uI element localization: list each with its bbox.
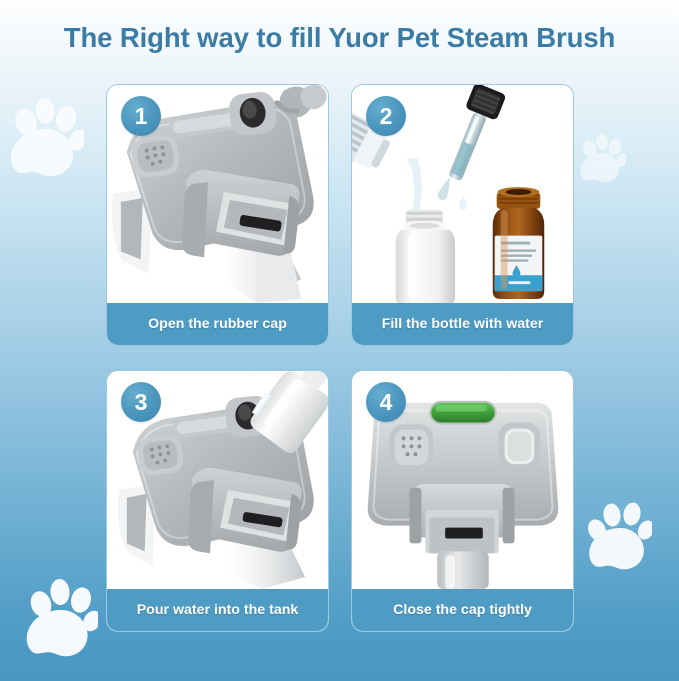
paw-print-top-right-icon: [580, 132, 626, 186]
step-4-image: 4: [352, 371, 573, 589]
step-2-number-badge: 2: [366, 96, 406, 136]
step-card-4[interactable]: 4: [351, 370, 574, 632]
paw-print-bottom-left-icon: [26, 578, 98, 662]
step-1-number-badge: 1: [121, 96, 161, 136]
infographic-root: The Right way to fill Yuor Pet Steam Bru…: [0, 0, 679, 681]
page-title: The Right way to fill Yuor Pet Steam Bru…: [0, 22, 679, 54]
paw-print-top-left-icon: [10, 96, 84, 182]
step-3-number-badge: 3: [121, 382, 161, 422]
step-4-number-badge: 4: [366, 382, 406, 422]
step-card-2[interactable]: 2: [351, 84, 574, 346]
step-1-image: 1: [107, 85, 328, 303]
paw-print-bottom-right-icon: [588, 498, 652, 572]
step-3-caption: Pour water into the tank: [107, 589, 328, 631]
steps-grid: 1: [106, 84, 574, 632]
step-3-image: 3: [107, 371, 328, 589]
step-card-3[interactable]: 3: [106, 370, 329, 632]
step-2-caption: Fill the bottle with water: [352, 303, 573, 345]
step-card-1[interactable]: 1: [106, 84, 329, 346]
step-2-image: 2: [352, 85, 573, 303]
step-1-caption: Open the rubber cap: [107, 303, 328, 345]
step-4-caption: Close the cap tightly: [352, 589, 573, 631]
